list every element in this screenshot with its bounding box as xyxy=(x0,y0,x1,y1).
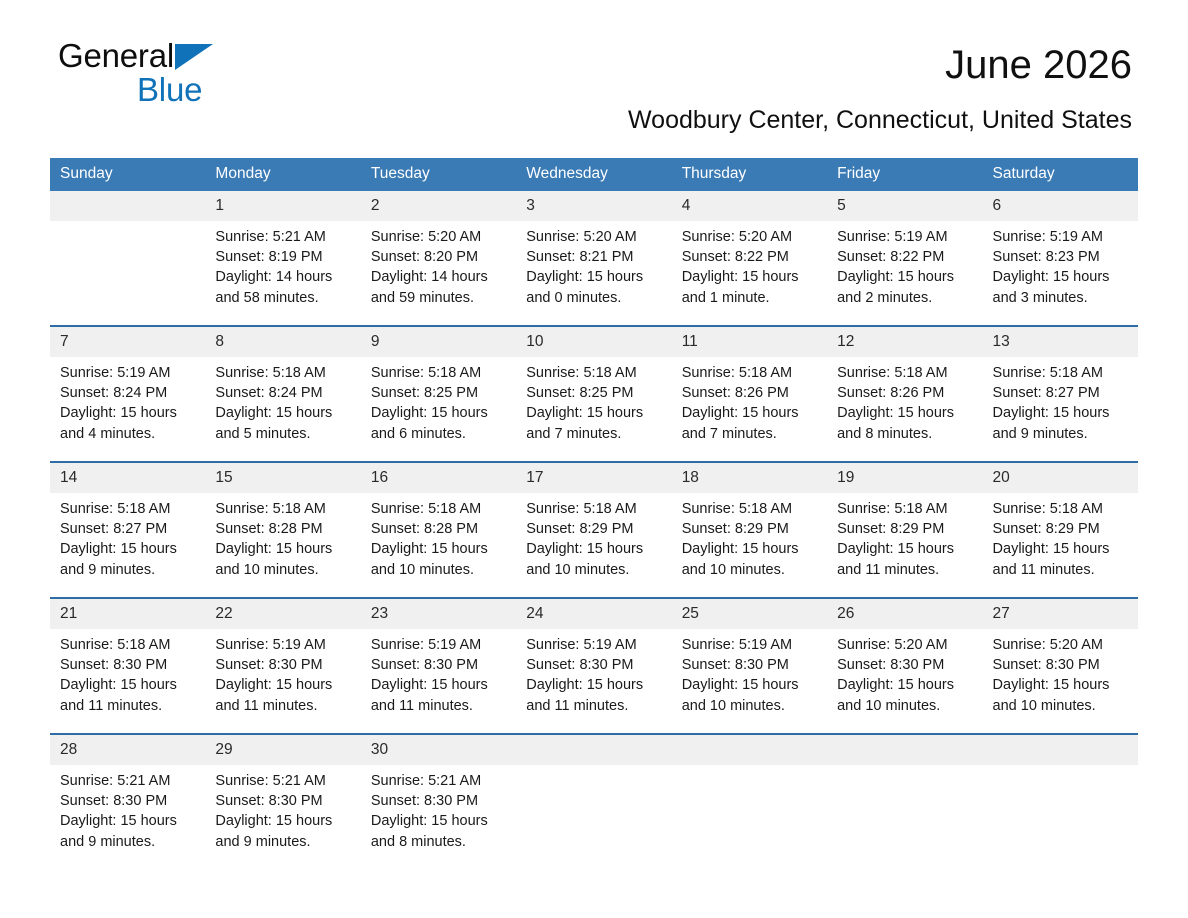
logo-bottom-row: Blue xyxy=(58,72,318,108)
calendar-day-cell[interactable]: 6Sunrise: 5:19 AMSunset: 8:23 PMDaylight… xyxy=(983,191,1138,326)
sunrise-text: Sunrise: 5:20 AM xyxy=(371,227,508,247)
day-details: Sunrise: 5:18 AMSunset: 8:29 PMDaylight:… xyxy=(827,493,982,580)
daylight-text: Daylight: 15 hours and 11 minutes. xyxy=(215,675,352,715)
sunrise-text: Sunrise: 5:18 AM xyxy=(837,363,974,383)
calendar-day-cell[interactable]: 15Sunrise: 5:18 AMSunset: 8:28 PMDayligh… xyxy=(205,462,360,598)
day-details: Sunrise: 5:19 AMSunset: 8:23 PMDaylight:… xyxy=(983,221,1138,308)
sunrise-text: Sunrise: 5:20 AM xyxy=(526,227,663,247)
day-details: Sunrise: 5:19 AMSunset: 8:22 PMDaylight:… xyxy=(827,221,982,308)
weekday-header-monday: Monday xyxy=(205,158,360,191)
calendar-day-cell[interactable]: 14Sunrise: 5:18 AMSunset: 8:27 PMDayligh… xyxy=(50,462,205,598)
sunset-text: Sunset: 8:30 PM xyxy=(60,791,197,811)
day-number xyxy=(672,735,827,765)
sunrise-text: Sunrise: 5:19 AM xyxy=(993,227,1130,247)
day-number: 6 xyxy=(983,191,1138,221)
day-number: 21 xyxy=(50,599,205,629)
sunrise-text: Sunrise: 5:21 AM xyxy=(215,771,352,791)
sunrise-text: Sunrise: 5:20 AM xyxy=(837,635,974,655)
daylight-text: Daylight: 15 hours and 1 minute. xyxy=(682,267,819,307)
calendar-day-cell[interactable]: 22Sunrise: 5:19 AMSunset: 8:30 PMDayligh… xyxy=(205,598,360,734)
day-number: 13 xyxy=(983,327,1138,357)
day-number: 27 xyxy=(983,599,1138,629)
sunrise-text: Sunrise: 5:18 AM xyxy=(371,499,508,519)
day-number: 1 xyxy=(205,191,360,221)
sunrise-text: Sunrise: 5:21 AM xyxy=(60,771,197,791)
calendar-page: General Blue June 2026 Woodbury Center, … xyxy=(0,0,1188,918)
calendar-day-cell[interactable]: 17Sunrise: 5:18 AMSunset: 8:29 PMDayligh… xyxy=(516,462,671,598)
calendar-day-cell[interactable]: 4Sunrise: 5:20 AMSunset: 8:22 PMDaylight… xyxy=(672,191,827,326)
weekday-header-wednesday: Wednesday xyxy=(516,158,671,191)
sunset-text: Sunset: 8:29 PM xyxy=(993,519,1130,539)
day-number: 22 xyxy=(205,599,360,629)
sunset-text: Sunset: 8:29 PM xyxy=(526,519,663,539)
logo-text-general: General xyxy=(58,38,174,74)
calendar-day-cell[interactable]: 12Sunrise: 5:18 AMSunset: 8:26 PMDayligh… xyxy=(827,326,982,462)
daylight-text: Daylight: 15 hours and 11 minutes. xyxy=(993,539,1130,579)
sunset-text: Sunset: 8:25 PM xyxy=(526,383,663,403)
weekday-header-row: Sunday Monday Tuesday Wednesday Thursday… xyxy=(50,158,1138,191)
daylight-text: Daylight: 15 hours and 10 minutes. xyxy=(371,539,508,579)
day-number: 14 xyxy=(50,463,205,493)
day-number: 23 xyxy=(361,599,516,629)
sunrise-text: Sunrise: 5:21 AM xyxy=(215,227,352,247)
sunset-text: Sunset: 8:30 PM xyxy=(682,655,819,675)
calendar-day-cell[interactable]: 18Sunrise: 5:18 AMSunset: 8:29 PMDayligh… xyxy=(672,462,827,598)
daylight-text: Daylight: 14 hours and 59 minutes. xyxy=(371,267,508,307)
daylight-text: Daylight: 15 hours and 8 minutes. xyxy=(371,811,508,851)
sunset-text: Sunset: 8:21 PM xyxy=(526,247,663,267)
daylight-text: Daylight: 15 hours and 7 minutes. xyxy=(682,403,819,443)
sunset-text: Sunset: 8:29 PM xyxy=(682,519,819,539)
calendar-header-row: Sunday Monday Tuesday Wednesday Thursday… xyxy=(50,158,1138,191)
sunset-text: Sunset: 8:27 PM xyxy=(60,519,197,539)
day-details: Sunrise: 5:18 AMSunset: 8:24 PMDaylight:… xyxy=(205,357,360,444)
sunrise-text: Sunrise: 5:20 AM xyxy=(682,227,819,247)
calendar-week-row: 21Sunrise: 5:18 AMSunset: 8:30 PMDayligh… xyxy=(50,598,1138,734)
day-details: Sunrise: 5:18 AMSunset: 8:30 PMDaylight:… xyxy=(50,629,205,716)
page-title: June 2026 xyxy=(945,42,1132,88)
page-header: General Blue June 2026 Woodbury Center, … xyxy=(50,0,1138,118)
calendar-day-cell[interactable]: 19Sunrise: 5:18 AMSunset: 8:29 PMDayligh… xyxy=(827,462,982,598)
sunrise-text: Sunrise: 5:19 AM xyxy=(526,635,663,655)
day-details: Sunrise: 5:18 AMSunset: 8:25 PMDaylight:… xyxy=(516,357,671,444)
sunset-text: Sunset: 8:25 PM xyxy=(371,383,508,403)
daylight-text: Daylight: 15 hours and 4 minutes. xyxy=(60,403,197,443)
day-number: 10 xyxy=(516,327,671,357)
daylight-text: Daylight: 15 hours and 0 minutes. xyxy=(526,267,663,307)
calendar-day-cell[interactable]: 16Sunrise: 5:18 AMSunset: 8:28 PMDayligh… xyxy=(361,462,516,598)
sunrise-text: Sunrise: 5:19 AM xyxy=(215,635,352,655)
calendar-week-row: 7Sunrise: 5:19 AMSunset: 8:24 PMDaylight… xyxy=(50,326,1138,462)
sunset-text: Sunset: 8:26 PM xyxy=(682,383,819,403)
calendar-day-cell[interactable]: 25Sunrise: 5:19 AMSunset: 8:30 PMDayligh… xyxy=(672,598,827,734)
calendar-day-cell[interactable]: 26Sunrise: 5:20 AMSunset: 8:30 PMDayligh… xyxy=(827,598,982,734)
sunset-text: Sunset: 8:24 PM xyxy=(60,383,197,403)
calendar-day-cell[interactable]: 27Sunrise: 5:20 AMSunset: 8:30 PMDayligh… xyxy=(983,598,1138,734)
day-number: 17 xyxy=(516,463,671,493)
sunset-text: Sunset: 8:30 PM xyxy=(215,655,352,675)
calendar-day-cell[interactable]: 9Sunrise: 5:18 AMSunset: 8:25 PMDaylight… xyxy=(361,326,516,462)
calendar-day-cell-empty xyxy=(672,734,827,869)
sunrise-text: Sunrise: 5:18 AM xyxy=(60,499,197,519)
day-number: 24 xyxy=(516,599,671,629)
daylight-text: Daylight: 15 hours and 10 minutes. xyxy=(682,539,819,579)
day-details: Sunrise: 5:20 AMSunset: 8:20 PMDaylight:… xyxy=(361,221,516,308)
weekday-header-thursday: Thursday xyxy=(672,158,827,191)
daylight-text: Daylight: 15 hours and 11 minutes. xyxy=(837,539,974,579)
sunset-text: Sunset: 8:30 PM xyxy=(60,655,197,675)
weekday-header-saturday: Saturday xyxy=(983,158,1138,191)
sunrise-text: Sunrise: 5:18 AM xyxy=(993,499,1130,519)
calendar-day-cell[interactable]: 1Sunrise: 5:21 AMSunset: 8:19 PMDaylight… xyxy=(205,191,360,326)
daylight-text: Daylight: 15 hours and 5 minutes. xyxy=(215,403,352,443)
sunrise-text: Sunrise: 5:19 AM xyxy=(371,635,508,655)
calendar-day-cell[interactable]: 30Sunrise: 5:21 AMSunset: 8:30 PMDayligh… xyxy=(361,734,516,869)
daylight-text: Daylight: 15 hours and 9 minutes. xyxy=(60,811,197,851)
day-number: 5 xyxy=(827,191,982,221)
day-details: Sunrise: 5:21 AMSunset: 8:30 PMDaylight:… xyxy=(205,765,360,852)
day-number: 7 xyxy=(50,327,205,357)
weekday-header-friday: Friday xyxy=(827,158,982,191)
sunset-text: Sunset: 8:19 PM xyxy=(215,247,352,267)
logo-text-blue: Blue xyxy=(137,71,202,108)
sunrise-text: Sunrise: 5:18 AM xyxy=(526,363,663,383)
daylight-text: Daylight: 15 hours and 11 minutes. xyxy=(526,675,663,715)
sunrise-text: Sunrise: 5:18 AM xyxy=(215,363,352,383)
sunset-text: Sunset: 8:22 PM xyxy=(837,247,974,267)
daylight-text: Daylight: 15 hours and 2 minutes. xyxy=(837,267,974,307)
daylight-text: Daylight: 15 hours and 10 minutes. xyxy=(682,675,819,715)
day-details: Sunrise: 5:20 AMSunset: 8:30 PMDaylight:… xyxy=(827,629,982,716)
calendar-day-cell[interactable]: 11Sunrise: 5:18 AMSunset: 8:26 PMDayligh… xyxy=(672,326,827,462)
logo-top-row: General xyxy=(58,38,318,76)
day-details: Sunrise: 5:18 AMSunset: 8:27 PMDaylight:… xyxy=(983,357,1138,444)
daylight-text: Daylight: 15 hours and 11 minutes. xyxy=(371,675,508,715)
sunrise-text: Sunrise: 5:18 AM xyxy=(526,499,663,519)
sunset-text: Sunset: 8:27 PM xyxy=(993,383,1130,403)
calendar-body: 1Sunrise: 5:21 AMSunset: 8:19 PMDaylight… xyxy=(50,191,1138,869)
sunrise-text: Sunrise: 5:18 AM xyxy=(837,499,974,519)
sunset-text: Sunset: 8:28 PM xyxy=(215,519,352,539)
calendar-day-cell[interactable]: 2Sunrise: 5:20 AMSunset: 8:20 PMDaylight… xyxy=(361,191,516,326)
day-details: Sunrise: 5:18 AMSunset: 8:26 PMDaylight:… xyxy=(672,357,827,444)
day-number: 26 xyxy=(827,599,982,629)
sunset-text: Sunset: 8:23 PM xyxy=(993,247,1130,267)
sunrise-text: Sunrise: 5:20 AM xyxy=(993,635,1130,655)
calendar-day-cell[interactable]: 20Sunrise: 5:18 AMSunset: 8:29 PMDayligh… xyxy=(983,462,1138,598)
day-details: Sunrise: 5:19 AMSunset: 8:24 PMDaylight:… xyxy=(50,357,205,444)
sunset-text: Sunset: 8:30 PM xyxy=(837,655,974,675)
page-subtitle-location: Woodbury Center, Connecticut, United Sta… xyxy=(628,105,1132,135)
day-number: 12 xyxy=(827,327,982,357)
day-details: Sunrise: 5:19 AMSunset: 8:30 PMDaylight:… xyxy=(516,629,671,716)
weekday-header-tuesday: Tuesday xyxy=(361,158,516,191)
calendar-day-cell-empty xyxy=(50,191,205,326)
day-details: Sunrise: 5:18 AMSunset: 8:27 PMDaylight:… xyxy=(50,493,205,580)
daylight-text: Daylight: 15 hours and 10 minutes. xyxy=(526,539,663,579)
day-number: 9 xyxy=(361,327,516,357)
sunrise-text: Sunrise: 5:18 AM xyxy=(993,363,1130,383)
daylight-text: Daylight: 15 hours and 9 minutes. xyxy=(993,403,1130,443)
day-details: Sunrise: 5:18 AMSunset: 8:28 PMDaylight:… xyxy=(205,493,360,580)
calendar-week-row: 28Sunrise: 5:21 AMSunset: 8:30 PMDayligh… xyxy=(50,734,1138,869)
sunrise-sunset-calendar-table: Sunday Monday Tuesday Wednesday Thursday… xyxy=(50,158,1138,869)
day-number: 15 xyxy=(205,463,360,493)
day-details: Sunrise: 5:18 AMSunset: 8:29 PMDaylight:… xyxy=(983,493,1138,580)
daylight-text: Daylight: 15 hours and 7 minutes. xyxy=(526,403,663,443)
daylight-text: Daylight: 14 hours and 58 minutes. xyxy=(215,267,352,307)
daylight-text: Daylight: 15 hours and 9 minutes. xyxy=(60,539,197,579)
day-number: 29 xyxy=(205,735,360,765)
sunrise-text: Sunrise: 5:18 AM xyxy=(682,499,819,519)
day-number xyxy=(983,735,1138,765)
day-number: 16 xyxy=(361,463,516,493)
sunrise-text: Sunrise: 5:18 AM xyxy=(60,635,197,655)
day-details: Sunrise: 5:21 AMSunset: 8:19 PMDaylight:… xyxy=(205,221,360,308)
day-details: Sunrise: 5:20 AMSunset: 8:22 PMDaylight:… xyxy=(672,221,827,308)
calendar-day-cell[interactable]: 5Sunrise: 5:19 AMSunset: 8:22 PMDaylight… xyxy=(827,191,982,326)
sunset-text: Sunset: 8:22 PM xyxy=(682,247,819,267)
day-details: Sunrise: 5:19 AMSunset: 8:30 PMDaylight:… xyxy=(205,629,360,716)
day-number: 4 xyxy=(672,191,827,221)
daylight-text: Daylight: 15 hours and 11 minutes. xyxy=(60,675,197,715)
calendar-day-cell[interactable]: 24Sunrise: 5:19 AMSunset: 8:30 PMDayligh… xyxy=(516,598,671,734)
calendar-day-cell[interactable]: 8Sunrise: 5:18 AMSunset: 8:24 PMDaylight… xyxy=(205,326,360,462)
day-details: Sunrise: 5:20 AMSunset: 8:30 PMDaylight:… xyxy=(983,629,1138,716)
sunrise-text: Sunrise: 5:19 AM xyxy=(837,227,974,247)
calendar-day-cell-empty xyxy=(983,734,1138,869)
calendar-week-row: 1Sunrise: 5:21 AMSunset: 8:19 PMDaylight… xyxy=(50,191,1138,326)
day-details: Sunrise: 5:18 AMSunset: 8:29 PMDaylight:… xyxy=(672,493,827,580)
sunrise-text: Sunrise: 5:18 AM xyxy=(215,499,352,519)
sunrise-text: Sunrise: 5:18 AM xyxy=(682,363,819,383)
day-number: 2 xyxy=(361,191,516,221)
calendar-day-cell[interactable]: 29Sunrise: 5:21 AMSunset: 8:30 PMDayligh… xyxy=(205,734,360,869)
day-number: 18 xyxy=(672,463,827,493)
day-details: Sunrise: 5:20 AMSunset: 8:21 PMDaylight:… xyxy=(516,221,671,308)
calendar-week-row: 14Sunrise: 5:18 AMSunset: 8:27 PMDayligh… xyxy=(50,462,1138,598)
sunset-text: Sunset: 8:26 PM xyxy=(837,383,974,403)
sunrise-text: Sunrise: 5:19 AM xyxy=(682,635,819,655)
sunset-text: Sunset: 8:29 PM xyxy=(837,519,974,539)
day-number: 3 xyxy=(516,191,671,221)
sunrise-text: Sunrise: 5:21 AM xyxy=(371,771,508,791)
sunset-text: Sunset: 8:30 PM xyxy=(371,791,508,811)
daylight-text: Daylight: 15 hours and 8 minutes. xyxy=(837,403,974,443)
day-details: Sunrise: 5:18 AMSunset: 8:28 PMDaylight:… xyxy=(361,493,516,580)
calendar-day-cell[interactable]: 21Sunrise: 5:18 AMSunset: 8:30 PMDayligh… xyxy=(50,598,205,734)
sunset-text: Sunset: 8:30 PM xyxy=(371,655,508,675)
day-details: Sunrise: 5:21 AMSunset: 8:30 PMDaylight:… xyxy=(50,765,205,852)
sunset-text: Sunset: 8:28 PM xyxy=(371,519,508,539)
daylight-text: Daylight: 15 hours and 10 minutes. xyxy=(837,675,974,715)
calendar-day-cell[interactable]: 7Sunrise: 5:19 AMSunset: 8:24 PMDaylight… xyxy=(50,326,205,462)
calendar-day-cell[interactable]: 3Sunrise: 5:20 AMSunset: 8:21 PMDaylight… xyxy=(516,191,671,326)
sunset-text: Sunset: 8:30 PM xyxy=(526,655,663,675)
calendar-day-cell[interactable]: 23Sunrise: 5:19 AMSunset: 8:30 PMDayligh… xyxy=(361,598,516,734)
daylight-text: Daylight: 15 hours and 9 minutes. xyxy=(215,811,352,851)
day-number xyxy=(827,735,982,765)
daylight-text: Daylight: 15 hours and 3 minutes. xyxy=(993,267,1130,307)
day-number: 25 xyxy=(672,599,827,629)
daylight-text: Daylight: 15 hours and 10 minutes. xyxy=(993,675,1130,715)
sunrise-text: Sunrise: 5:19 AM xyxy=(60,363,197,383)
day-details: Sunrise: 5:19 AMSunset: 8:30 PMDaylight:… xyxy=(672,629,827,716)
sunset-text: Sunset: 8:30 PM xyxy=(993,655,1130,675)
day-details: Sunrise: 5:19 AMSunset: 8:30 PMDaylight:… xyxy=(361,629,516,716)
daylight-text: Daylight: 15 hours and 6 minutes. xyxy=(371,403,508,443)
generalblue-logo[interactable]: General Blue xyxy=(58,38,318,114)
day-number xyxy=(516,735,671,765)
day-number: 30 xyxy=(361,735,516,765)
day-details: Sunrise: 5:21 AMSunset: 8:30 PMDaylight:… xyxy=(361,765,516,852)
day-number: 28 xyxy=(50,735,205,765)
day-number: 20 xyxy=(983,463,1138,493)
sunset-text: Sunset: 8:30 PM xyxy=(215,791,352,811)
sunset-text: Sunset: 8:20 PM xyxy=(371,247,508,267)
day-number xyxy=(50,191,205,221)
calendar-day-cell[interactable]: 13Sunrise: 5:18 AMSunset: 8:27 PMDayligh… xyxy=(983,326,1138,462)
calendar-day-cell-empty xyxy=(516,734,671,869)
weekday-header-sunday: Sunday xyxy=(50,158,205,191)
daylight-text: Daylight: 15 hours and 10 minutes. xyxy=(215,539,352,579)
day-number: 11 xyxy=(672,327,827,357)
sunset-text: Sunset: 8:24 PM xyxy=(215,383,352,403)
calendar-day-cell[interactable]: 28Sunrise: 5:21 AMSunset: 8:30 PMDayligh… xyxy=(50,734,205,869)
day-number: 8 xyxy=(205,327,360,357)
day-details: Sunrise: 5:18 AMSunset: 8:29 PMDaylight:… xyxy=(516,493,671,580)
day-number: 19 xyxy=(827,463,982,493)
calendar-day-cell[interactable]: 10Sunrise: 5:18 AMSunset: 8:25 PMDayligh… xyxy=(516,326,671,462)
day-details: Sunrise: 5:18 AMSunset: 8:25 PMDaylight:… xyxy=(361,357,516,444)
calendar-day-cell-empty xyxy=(827,734,982,869)
sunrise-text: Sunrise: 5:18 AM xyxy=(371,363,508,383)
day-details: Sunrise: 5:18 AMSunset: 8:26 PMDaylight:… xyxy=(827,357,982,444)
logo-triangle-icon xyxy=(175,44,213,70)
